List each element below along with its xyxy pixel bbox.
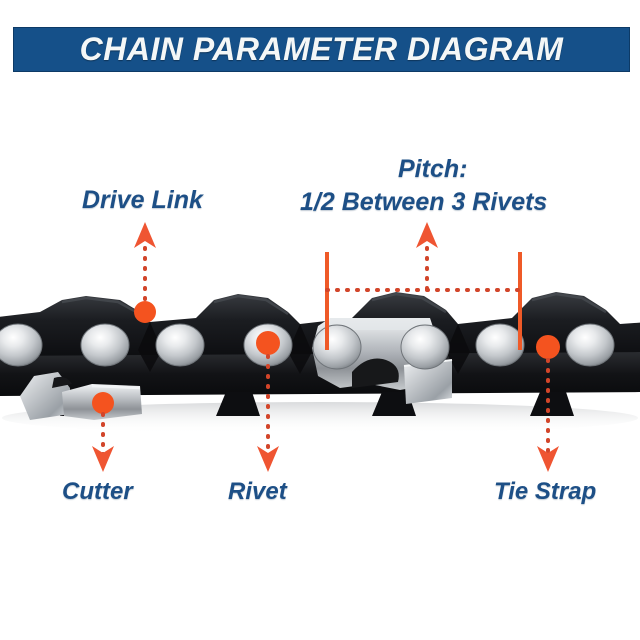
label-rivet: Rivet [228,478,287,506]
pitch-arrow-icon [416,222,438,248]
label-pitch-detail: 1/2 Between 3 Rivets [300,188,547,217]
title-banner: CHAIN PARAMETER DIAGRAM [13,27,630,72]
tie-strap-marker [536,335,560,359]
cutter-marker [92,392,114,414]
label-drive-link: Drive Link [82,186,203,215]
rivet-marker [256,331,280,355]
cutter-arrow-icon [92,446,114,472]
drive-link-arrow-icon [134,222,156,248]
drive-link-marker [134,301,156,323]
chain-illustration [0,0,640,640]
rivet-arrow-icon [257,446,279,472]
label-cutter: Cutter [62,478,133,506]
page-title: CHAIN PARAMETER DIAGRAM [80,31,564,68]
label-pitch-title: Pitch: [398,155,467,184]
label-tie-strap: Tie Strap [494,478,596,506]
diagram-canvas: CHAIN PARAMETER DIAGRAM Drive Link Pitch… [0,0,640,640]
